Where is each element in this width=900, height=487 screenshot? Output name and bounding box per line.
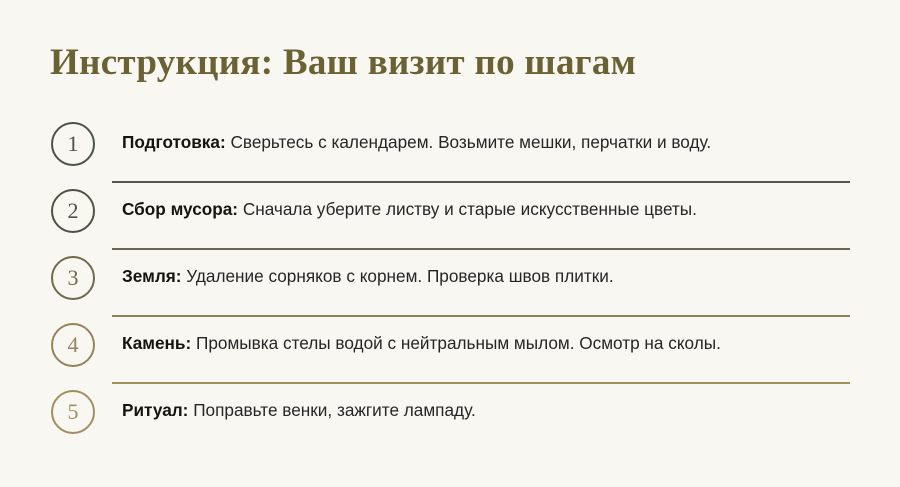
step-description: Сверьтесь с календарем. Возьмите мешки, …: [230, 132, 711, 152]
list-item: 1Подготовка: Сверьтесь с календарем. Воз…: [0, 118, 900, 185]
step-description: Поправьте венки, зажгите лампаду.: [193, 400, 476, 420]
step-number-badge: 3: [51, 256, 95, 300]
step-divider: [112, 382, 850, 384]
steps-list: 1Подготовка: Сверьтесь с календарем. Воз…: [0, 118, 900, 453]
step-description: Удаление сорняков с корнем. Проверка шво…: [186, 266, 613, 286]
step-text: Сбор мусора: Сначала уберите листву и ст…: [122, 198, 697, 220]
step-description: Промывка стелы водой с нейтральным мылом…: [196, 333, 721, 353]
instruction-card: Инструкция: Ваш визит по шагам 1Подготов…: [0, 0, 900, 487]
step-text: Подготовка: Сверьтесь с календарем. Возь…: [122, 131, 711, 153]
step-number-badge: 1: [51, 122, 95, 166]
list-item: 2Сбор мусора: Сначала уберите листву и с…: [0, 185, 900, 252]
step-divider: [112, 248, 850, 250]
step-label: Подготовка:: [122, 132, 226, 152]
step-label: Камень:: [122, 333, 191, 353]
step-label: Земля:: [122, 266, 182, 286]
step-label: Ритуал:: [122, 400, 188, 420]
step-number-badge: 5: [51, 390, 95, 434]
page-title: Инструкция: Ваш визит по шагам: [50, 41, 636, 84]
step-number-badge: 2: [51, 189, 95, 233]
step-divider: [112, 181, 850, 183]
step-text: Земля: Удаление сорняков с корнем. Прове…: [122, 265, 614, 287]
list-item: 5Ритуал: Поправьте венки, зажгите лампад…: [0, 386, 900, 453]
step-text: Камень: Промывка стелы водой с нейтральн…: [122, 332, 721, 354]
list-item: 4Камень: Промывка стелы водой с нейтраль…: [0, 319, 900, 386]
step-divider: [112, 315, 850, 317]
step-label: Сбор мусора:: [122, 199, 238, 219]
list-item: 3Земля: Удаление сорняков с корнем. Пров…: [0, 252, 900, 319]
step-number-badge: 4: [51, 323, 95, 367]
step-description: Сначала уберите листву и старые искусств…: [243, 199, 697, 219]
step-text: Ритуал: Поправьте венки, зажгите лампаду…: [122, 399, 476, 421]
